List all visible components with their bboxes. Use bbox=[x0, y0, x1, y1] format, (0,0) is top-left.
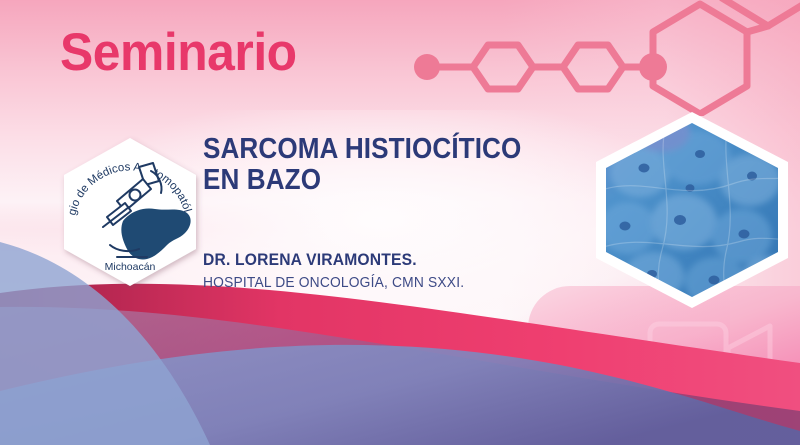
kicker-heading: Seminario bbox=[60, 26, 297, 79]
molecule-chain-icon bbox=[400, 0, 800, 116]
seminar-banner: Colegio de Médicos Anatomopatólogos Mich… bbox=[0, 0, 800, 445]
college-logo: Colegio de Médicos Anatomopatólogos Mich… bbox=[55, 135, 205, 290]
speaker-affiliation: HOSPITAL DE ONCOLOGÍA, CMN SXXI. bbox=[203, 274, 464, 291]
logo-bottom-text: Michoacán bbox=[105, 261, 156, 273]
molecule-node-left bbox=[414, 54, 440, 80]
molecule-node-right bbox=[639, 53, 667, 81]
page-title: SARCOMA HISTIOCÍTICO EN BAZO bbox=[203, 134, 545, 197]
histology-micrograph-hexagon bbox=[592, 110, 792, 310]
speaker-name: DR. LORENA VIRAMONTES. bbox=[203, 250, 417, 270]
title-line-1: SARCOMA HISTIOCÍTICO bbox=[203, 133, 521, 165]
title-line-2: EN BAZO bbox=[203, 165, 545, 196]
